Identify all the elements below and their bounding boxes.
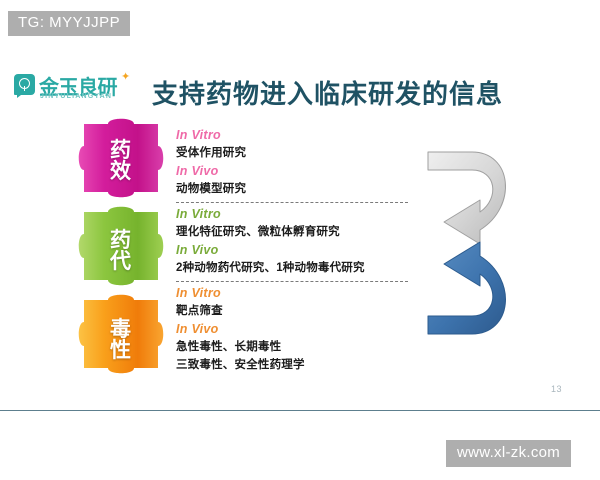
puzzle-diagram: 药 效 药 代 xyxy=(62,118,180,390)
slide-screenshot: TG: MYYJJPP 金玉良研 ✦ JINYULIANGYAN 支持药物进入临… xyxy=(0,0,600,480)
section-efficacy-in-vitro-header: In Vitro xyxy=(176,126,408,144)
section-pk-in-vivo-header: In Vivo xyxy=(176,241,408,259)
logo-speech-bubble-magnifier-icon xyxy=(14,74,35,95)
section-efficacy-in-vivo-item-1: 动物模型研究 xyxy=(176,180,408,198)
section-efficacy-in-vivo-header: In Vivo xyxy=(176,162,408,180)
blue-curved-arrow xyxy=(428,242,505,334)
section-divider-2 xyxy=(176,281,408,282)
section-pharmacokinetics: In Vitro 理化特征研究、微粒体孵育研究 In Vivo 2种动物药代研究… xyxy=(176,205,408,277)
section-toxicity: In Vitro 靶点筛查 In Vivo 急性毒性、长期毒性 三致毒性、安全性… xyxy=(176,284,408,374)
page-number: 13 xyxy=(551,384,562,394)
section-tox-in-vivo-item-2: 三致毒性、安全性药理学 xyxy=(176,356,408,374)
puzzle-piece-pharmacokinetics: 药 代 xyxy=(62,206,180,306)
brand-logo: 金玉良研 ✦ JINYULIANGYAN xyxy=(14,72,132,104)
page-title: 支持药物进入临床研发的信息 xyxy=(152,74,503,111)
section-divider-1 xyxy=(176,202,408,203)
section-tox-in-vitro-header: In Vitro xyxy=(176,284,408,302)
gray-curved-arrow xyxy=(428,152,505,244)
section-efficacy: In Vitro 受体作用研究 In Vivo 动物模型研究 xyxy=(176,126,408,198)
section-pk-in-vivo-item-1: 2种动物药代研究、1种动物毒代研究 xyxy=(176,259,408,277)
logo-star-icon: ✦ xyxy=(121,72,130,83)
section-tox-in-vitro-item-1: 靶点筛查 xyxy=(176,302,408,320)
puzzle-piece-toxicity: 毒 性 xyxy=(62,294,180,394)
process-arrows xyxy=(414,144,544,344)
section-tox-in-vivo-header: In Vivo xyxy=(176,320,408,338)
section-pk-in-vitro-item-1: 理化特征研究、微粒体孵育研究 xyxy=(176,223,408,241)
top-watermark-tag: TG: MYYJJPP xyxy=(8,11,130,36)
section-efficacy-in-vitro-item-1: 受体作用研究 xyxy=(176,144,408,162)
section-pk-in-vitro-header: In Vitro xyxy=(176,205,408,223)
bottom-watermark-site: www.xl-zk.com xyxy=(446,440,571,467)
magnifier-handle-shape xyxy=(24,86,26,91)
slide-bottom-divider xyxy=(0,410,600,411)
puzzle-piece-efficacy: 药 效 xyxy=(62,118,180,218)
content-column: In Vitro 受体作用研究 In Vivo 动物模型研究 In Vitro … xyxy=(176,126,408,374)
logo-pinyin-name: JINYULIANGYAN xyxy=(40,93,112,100)
section-tox-in-vivo-item-1: 急性毒性、长期毒性 xyxy=(176,338,408,356)
